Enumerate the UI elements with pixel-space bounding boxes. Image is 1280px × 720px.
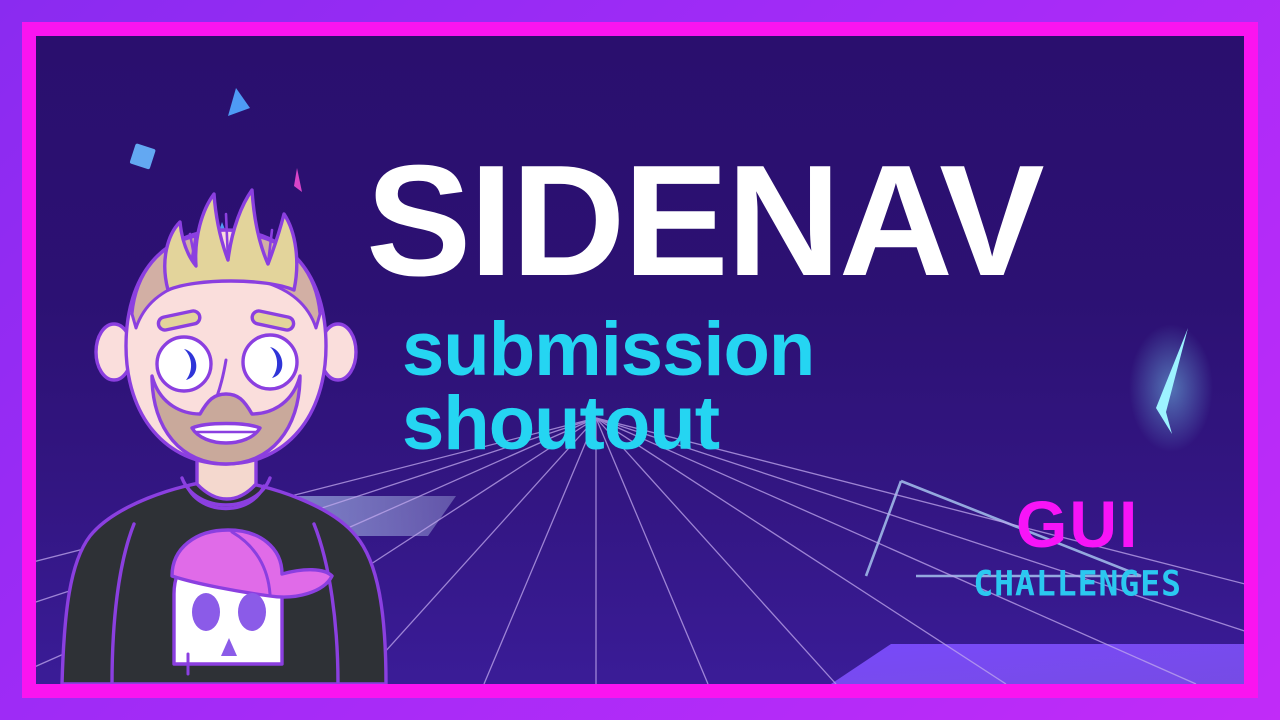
subtitle-line-1: submission — [402, 313, 1196, 387]
avatar — [56, 164, 416, 684]
logo-primary-text: GUI — [973, 491, 1182, 557]
video-thumbnail: SIDENAV submission shoutout GUI CHALLENG… — [0, 0, 1280, 720]
title-block: SIDENAV submission shoutout — [366, 148, 1196, 462]
logo-secondary-text: CHALLENGES — [973, 566, 1182, 601]
avatar-illustration — [56, 164, 416, 684]
thumbnail-stage: SIDENAV submission shoutout GUI CHALLENG… — [36, 36, 1244, 684]
subtitle: submission shoutout — [402, 313, 1196, 462]
avatar-mohawk — [165, 190, 297, 290]
gui-challenges-logo: GUI CHALLENGES — [973, 491, 1182, 600]
confetti-triangle-blue — [222, 86, 256, 120]
subtitle-line-2: shoutout — [402, 387, 1196, 461]
page-title: SIDENAV — [366, 148, 1196, 295]
